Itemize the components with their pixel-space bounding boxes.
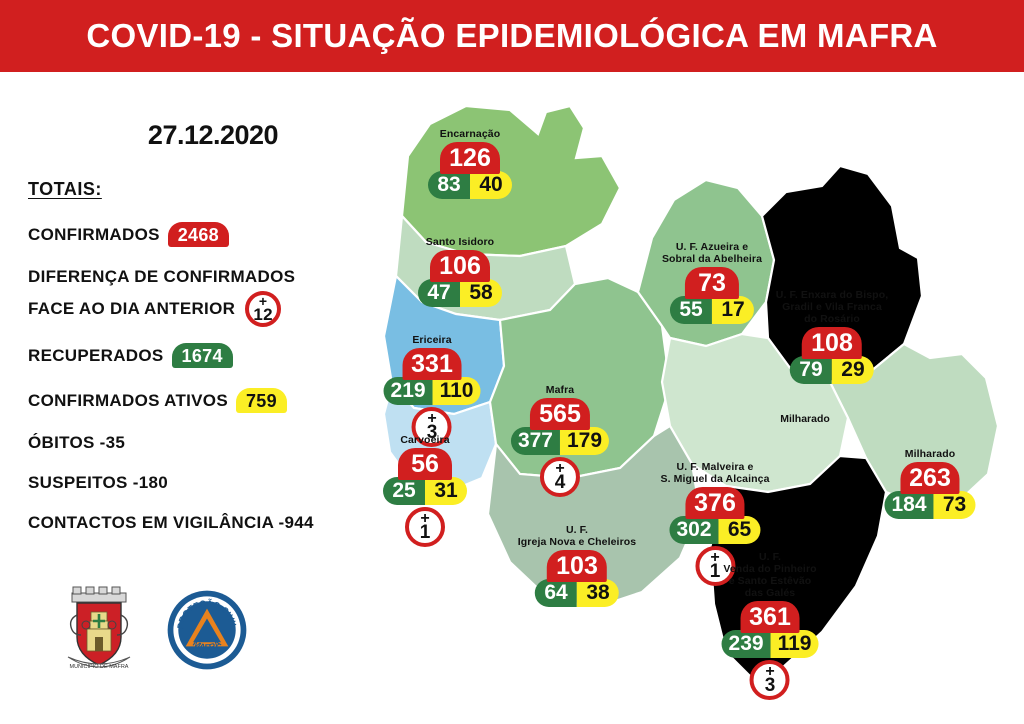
map-marker-label: U. F. Enxara do Bispo,Gradil e Vila Fran… <box>776 289 888 325</box>
confirmed-count: 565 <box>530 398 590 430</box>
confirmed-count: 106 <box>430 250 490 282</box>
map-marker-label: Mafra <box>511 384 609 396</box>
map-marker-label: Milharado <box>884 448 975 460</box>
stat-suspeitos-value: 180 <box>139 473 168 493</box>
recovered-count: 239 <box>722 630 771 658</box>
recovered-count: 184 <box>884 491 933 519</box>
recovered-count: 79 <box>790 356 832 384</box>
active-count: 179 <box>560 427 609 455</box>
stat-diferenca: DIFERENÇA DE CONFIRMADOS FACE AO DIA ANT… <box>28 267 368 327</box>
active-count: 58 <box>460 279 502 307</box>
stat-diferenca-line1: DIFERENÇA DE CONFIRMADOS <box>28 267 368 287</box>
recovered-count: 302 <box>669 516 718 544</box>
active-count: 40 <box>470 171 512 199</box>
stat-vigilancia: CONTACTOS EM VIGILÂNCIA - 944 <box>28 513 368 533</box>
stat-vigilancia-label: CONTACTOS EM VIGILÂNCIA - <box>28 513 285 533</box>
recovered-count: 47 <box>418 279 460 307</box>
map-marker-badge: 361 239 119 <box>722 601 819 658</box>
map-marker-label: Carvoeira <box>383 434 467 446</box>
map-marker-badge: 331 219 110 <box>384 348 481 405</box>
confirmed-count: 376 <box>685 487 745 519</box>
recovered-count: 377 <box>511 427 560 455</box>
confirmed-count: 126 <box>440 142 500 174</box>
confirmed-count: 103 <box>547 550 607 582</box>
active-count: 29 <box>832 356 874 384</box>
confirmed-count: 331 <box>402 348 462 380</box>
stat-obitos: ÓBITOS - 35 <box>28 433 368 453</box>
municipio-de-mafra-brasao-icon: MUNICÍPIO DE MAFRA <box>60 585 138 675</box>
active-count: 65 <box>719 516 761 544</box>
stat-ativos-label: CONFIRMADOS ATIVOS <box>28 391 228 411</box>
active-count: 38 <box>577 579 619 607</box>
map-marker-label: U. F.Igreja Nova e Cheleiros <box>518 524 636 548</box>
map-marker-badge: 103 64 38 <box>535 550 619 607</box>
map-marker-milharado[interactable]: Milharado 263 184 73 <box>884 448 975 519</box>
stat-obitos-label: ÓBITOS - <box>28 433 106 453</box>
stat-diferenca-line2: FACE AO DIA ANTERIOR <box>28 299 235 319</box>
recovered-count: 55 <box>670 296 712 324</box>
stat-recuperados-label: RECUPERADOS <box>28 346 164 366</box>
page-header: COVID-19 - SITUAÇÃO EPIDEMIOLÓGICA EM MA… <box>0 0 1024 72</box>
stat-ativos-value: 759 <box>236 388 287 413</box>
active-count: 73 <box>934 491 976 519</box>
map-marker-badge: 126 83 40 <box>428 142 512 199</box>
map-marker-badge: 263 184 73 <box>884 462 975 519</box>
map-marker-igreja-nova-cheleiros[interactable]: U. F.Igreja Nova e Cheleiros 103 64 38 <box>518 524 636 607</box>
stat-confirmados-label: CONFIRMADOS <box>28 225 160 245</box>
map-marker-label: Encarnação <box>428 128 512 140</box>
recovered-count: 219 <box>384 377 433 405</box>
delta-badge: + 4 <box>540 457 580 497</box>
stat-diferenca-badge: + 12 <box>245 291 281 327</box>
map-marker-ericeira[interactable]: Ericeira 331 219 110 + 3 <box>384 334 481 447</box>
map-marker-santo-isidoro[interactable]: Santo Isidoro 106 47 58 <box>418 236 502 307</box>
recovered-count: 64 <box>535 579 577 607</box>
stat-recuperados: RECUPERADOS 1674 <box>28 343 368 368</box>
delta-badge: + 3 <box>750 660 790 700</box>
report-date: 27.12.2020 <box>88 120 338 151</box>
map-marker-label: U. F. Malveira eS. Miguel da Alcainça <box>660 461 769 485</box>
delta-badge: + 1 <box>405 507 445 547</box>
map-marker-enxara-gradil[interactable]: U. F. Enxara do Bispo,Gradil e Vila Fran… <box>776 289 888 384</box>
stat-vigilancia-value: 944 <box>285 513 314 533</box>
active-count: 31 <box>425 477 467 505</box>
protecao-civil-mafra-icon: PROTEÇÃO CIVIL MAFRA <box>166 589 248 671</box>
map-place-label-milharado: Milharado <box>780 413 830 425</box>
delta-value: 3 <box>765 678 776 694</box>
map-marker-venda-pinheiro[interactable]: U. F.Venda do Pinheiroe Santo Estêvãodas… <box>722 551 819 700</box>
map-marker-label: U. F.Venda do Pinheiroe Santo Estêvãodas… <box>722 551 819 599</box>
active-count: 110 <box>433 377 481 405</box>
map-marker-label: Santo Isidoro <box>418 236 502 248</box>
brasao-caption: MUNICÍPIO DE MAFRA <box>70 663 129 670</box>
delta-value: 1 <box>710 564 721 580</box>
map-marker-azueira-sobral[interactable]: U. F. Azueira eSobral da Abelheira 73 55… <box>662 241 762 324</box>
stat-obitos-value: 35 <box>106 433 126 453</box>
map-marker-badge: 565 377 179 <box>511 398 609 455</box>
map-marker-label: U. F. Azueira eSobral da Abelheira <box>662 241 762 265</box>
recovered-count: 83 <box>428 171 470 199</box>
recovered-count: 25 <box>383 477 425 505</box>
map-marker-badge: 106 47 58 <box>418 250 502 307</box>
confirmed-count: 361 <box>740 601 800 633</box>
map-marker-mafra[interactable]: Mafra 565 377 179 + 4 <box>511 384 609 497</box>
delta-value: 4 <box>555 475 566 491</box>
map-marker-encarnacao[interactable]: Encarnação 126 83 40 <box>428 128 512 199</box>
confirmed-count: 56 <box>398 448 452 480</box>
mafra-municipality-map: Milharado Encarnação 126 83 40 Santo Isi… <box>370 96 1020 724</box>
map-marker-badge: 56 25 31 <box>383 448 467 505</box>
stat-suspeitos: SUSPEITOS - 180 <box>28 473 368 493</box>
map-marker-carvoeira[interactable]: Carvoeira 56 25 31 + 1 <box>383 434 467 547</box>
map-marker-label: Ericeira <box>384 334 481 346</box>
stat-ativos: CONFIRMADOS ATIVOS 759 <box>28 388 368 413</box>
page-title: COVID-19 - SITUAÇÃO EPIDEMIOLÓGICA EM MA… <box>86 17 937 55</box>
stat-diferenca-value: 12 <box>253 308 273 322</box>
confirmed-count: 263 <box>900 462 960 494</box>
map-marker-badge: 376 302 65 <box>669 487 760 544</box>
active-count: 17 <box>712 296 754 324</box>
infographic-page: COVID-19 - SITUAÇÃO EPIDEMIOLÓGICA EM MA… <box>0 0 1024 724</box>
stat-confirmados: CONFIRMADOS 2468 <box>28 222 368 247</box>
stat-confirmados-value: 2468 <box>168 222 229 247</box>
totals-panel: 27.12.2020 TOTAIS: CONFIRMADOS 2468 DIFE… <box>28 120 368 553</box>
map-marker-badge: 73 55 17 <box>670 267 754 324</box>
active-count: 119 <box>771 630 819 658</box>
delta-value: 1 <box>420 525 431 541</box>
confirmed-count: 73 <box>685 267 739 299</box>
logo-row: MUNICÍPIO DE MAFRA PROTEÇÃO CIVIL MAFRA <box>60 585 248 675</box>
map-marker-badge: 108 79 29 <box>790 327 874 384</box>
confirmed-count: 108 <box>802 327 862 359</box>
stat-suspeitos-label: SUSPEITOS - <box>28 473 139 493</box>
stat-recuperados-value: 1674 <box>172 343 233 368</box>
totals-heading: TOTAIS: <box>28 179 368 200</box>
